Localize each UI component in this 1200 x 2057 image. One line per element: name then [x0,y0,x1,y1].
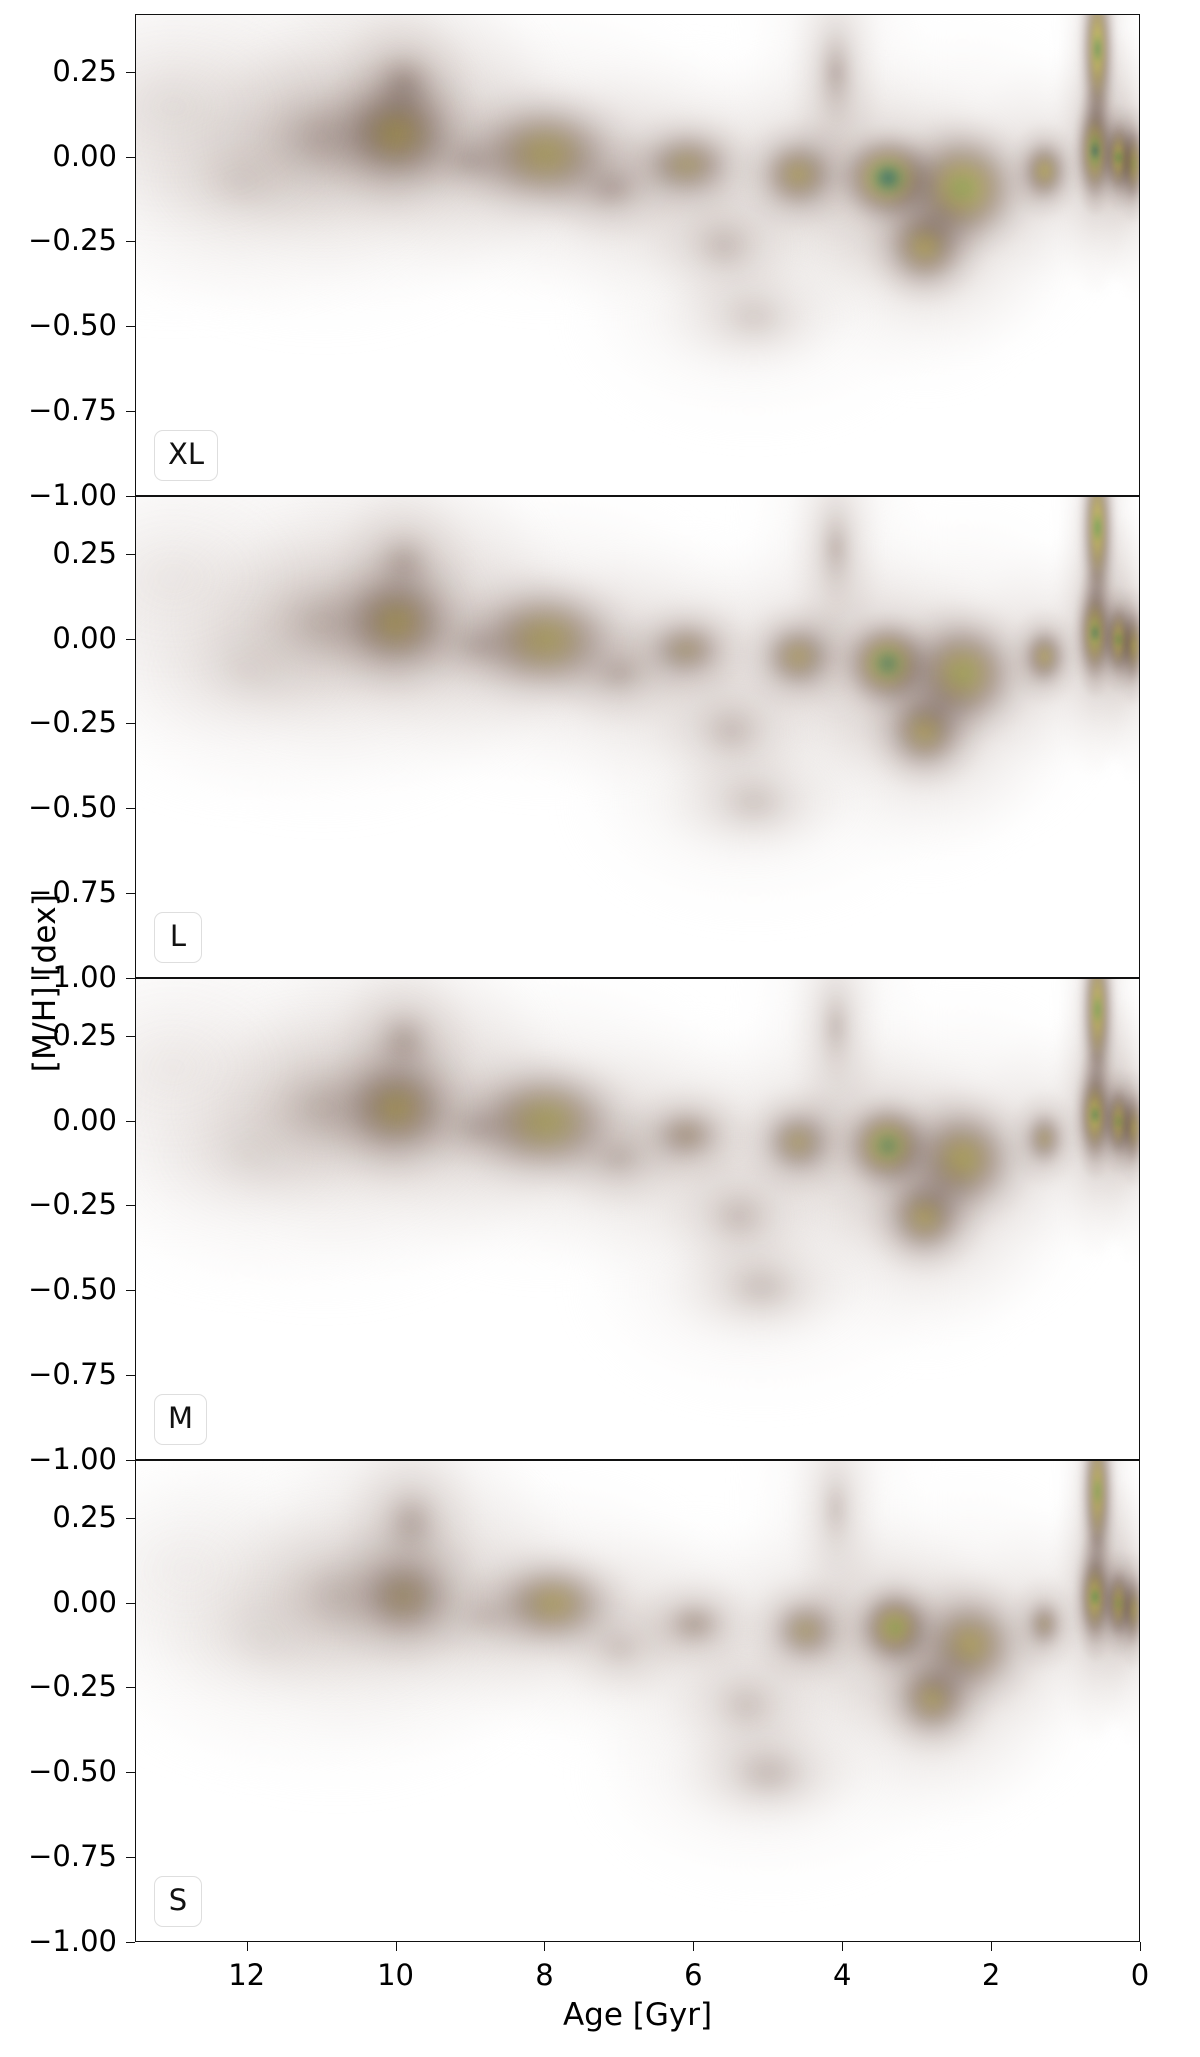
density-blob [453,91,638,217]
density-blob [972,548,1117,766]
x-tick-label: 0 [1095,1958,1185,1992]
y-tick-label: −0.50 [0,1275,117,1304]
density-blob [658,1153,820,1279]
density-blob [551,1106,689,1211]
y-tick-mark [126,1375,135,1376]
density-blob [1117,588,1139,704]
density-blob [335,497,473,635]
y-tick-mark [126,241,135,242]
x-tick-label: 10 [351,1958,441,1992]
density-blob [1100,995,1139,1261]
density-blob [136,1461,527,1836]
density-blob [790,497,882,664]
density-blob [577,1560,916,1850]
panel-tag-xl: XL [154,430,218,481]
y-tick-label: 0.00 [0,142,117,171]
density-blob [662,264,847,369]
density-blob [1051,1461,1138,1742]
density-blob [136,1468,505,1807]
density-blob [195,48,449,227]
y-tick-mark [126,1603,135,1604]
y-tick-label: 0.25 [0,1503,117,1532]
density-blob [569,1071,908,1361]
density-blob [543,136,681,241]
density-blob [195,1019,449,1198]
density-blob [972,1030,1117,1248]
y-tick-label: −0.50 [0,311,117,340]
density-blob [1010,124,1079,219]
density-blob [1059,979,1137,1252]
density-blob [839,1098,936,1193]
y-tick-label: −0.75 [0,396,117,425]
density-blob [786,554,990,772]
y-tick-mark [126,639,135,640]
y-tick-mark [126,1687,135,1688]
density-blob [741,604,856,709]
density-blob [195,533,449,712]
density-blob [779,69,997,287]
density-blob [227,979,566,1265]
density-blob [554,541,821,759]
density-blob [739,497,933,814]
density-blob [560,681,948,923]
density-blob [352,497,740,785]
density-blob [839,616,936,711]
y-tick-label: −1.00 [0,1445,117,1474]
density-blob [136,15,358,222]
x-axis-title: Age [Gyr] [135,1997,1140,2033]
density-blob [340,1520,631,1714]
y-tick-label: −0.75 [0,1842,117,1871]
density-blob [1059,15,1137,291]
y-tick-label: −1.00 [0,963,117,992]
y-tick-mark [126,1205,135,1206]
y-tick-mark [126,978,135,979]
panel-tag-l: L [154,912,202,963]
density-blob [1074,88,1116,214]
density-blob [136,15,561,373]
density-blob [798,1518,992,1736]
y-tick-mark [126,554,135,555]
density-blob [259,15,550,252]
density-blob [136,108,356,255]
density-blob [811,1565,1053,1831]
density-blob [804,113,1046,379]
density-blob [685,1510,927,1752]
density-blob [474,552,765,794]
density-blob [867,673,982,789]
density-blob [409,604,547,688]
y-tick-mark [126,157,135,158]
density-blob [474,1038,765,1280]
density-blob [677,54,919,296]
y-tick-label: 0.00 [0,624,117,653]
y-tick-mark [126,496,135,497]
y-tick-label: −0.25 [0,226,117,255]
y-tick-mark [126,1772,135,1773]
x-tick-label: 6 [648,1958,738,1992]
x-tick-mark [396,1942,397,1951]
density-blob [824,1487,1115,1802]
x-tick-mark [991,1942,992,1951]
density-blob [804,598,1046,864]
density-blob [136,986,490,1325]
density-blob [227,15,566,291]
density-blob [972,62,1117,280]
density-blob [817,1002,1108,1317]
density-blob [335,15,473,157]
density-blob [1051,979,1138,1260]
density-blob [1080,1483,1139,1725]
density-blob [453,1058,638,1184]
density-blob [561,1515,828,1733]
density-blob [893,1091,1031,1228]
density-blob [352,15,740,299]
density-blob [817,516,1108,831]
density-blob [266,1461,557,1716]
density-blob [790,979,882,1142]
density-blob [1074,1534,1116,1660]
density-blob [227,497,566,780]
density-blob [467,67,758,309]
density-blob [1074,570,1116,696]
density-blob [352,979,740,1267]
density-blob [623,1088,750,1183]
density-blob [210,1507,464,1686]
y-tick-mark [126,1857,135,1858]
y-tick-label: 0.25 [0,57,117,86]
x-tick-mark [842,1942,843,1951]
density-blob [551,621,689,726]
density-blob [136,979,346,1183]
y-tick-label: −0.50 [0,1757,117,1786]
y-tick-label: 0.00 [0,1588,117,1617]
density-blob [560,196,948,438]
density-blob [1100,513,1139,779]
y-tick-label: −0.25 [0,1672,117,1701]
density-blob [136,979,589,1314]
y-tick-mark [126,1121,135,1122]
density-blob [677,1021,919,1263]
density-blob [326,64,617,258]
density-blob [849,1580,941,1675]
density-blob [234,1461,573,1754]
panel-tag-m: M [154,1394,207,1445]
y-tick-mark [126,1518,135,1519]
density-blob [316,65,478,202]
density-blob [618,117,756,212]
density-blob [136,497,589,828]
density-blob [669,1235,854,1340]
x-tick-label: 4 [797,1958,887,1992]
density-blob [554,1026,821,1244]
y-tick-label: −0.75 [0,878,117,907]
density-blob [836,131,940,226]
density-blob [786,1036,990,1254]
density-blob [136,497,537,845]
density-blob [804,1083,1046,1349]
panel-xl[interactable]: XL [135,14,1140,496]
density-blob [817,31,1108,346]
density-blob [136,15,589,343]
density-blob [136,1082,363,1229]
density-blob [1051,15,1138,296]
density-blob [551,1595,689,1700]
density-blob [474,1527,765,1769]
density-blob [333,1032,624,1226]
y-tick-mark [126,411,135,412]
density-blob [417,1575,555,1659]
density-blob [1117,1552,1139,1668]
density-blob [472,1551,634,1656]
density-blob [1079,1461,1116,1597]
y-tick-mark [126,1942,135,1943]
y-tick-label: 0.00 [0,1106,117,1135]
density-blob [739,15,933,339]
density-blob [790,1461,882,1624]
density-blob [567,1167,955,1409]
density-blob [867,1159,982,1275]
density-blob [402,119,540,203]
density-blob [541,55,832,273]
density-blob [383,1483,722,1725]
density-blob [1051,497,1138,778]
y-tick-mark [126,723,135,724]
density-surface-l [136,497,1139,977]
density-blob [739,1461,933,1775]
x-tick-label: 8 [499,1958,589,1992]
density-blob [453,576,638,702]
y-tick-label: −0.25 [0,1190,117,1219]
density-blob [1100,1551,1137,1656]
y-tick-mark [126,893,135,894]
density-blob [1080,37,1139,279]
density-blob [875,1641,990,1757]
density-blob [1010,1091,1079,1186]
y-tick-mark [126,72,135,73]
density-blob [259,497,550,731]
density-blob [1010,1577,1079,1672]
density-blob [1059,497,1137,770]
panel-tag-s: S [154,1876,202,1927]
density-blob [1117,106,1139,222]
density-surface-xl [136,15,1139,495]
density-blob [643,183,805,309]
x-tick-mark [1140,1942,1141,1951]
density-blob [739,979,933,1293]
density-blob [1100,1477,1139,1743]
density-blob [316,554,478,691]
density-blob [136,1461,604,1802]
density-blob [651,668,813,794]
density-blob [316,1040,478,1177]
x-tick-mark [544,1942,545,1951]
y-tick-mark [126,1036,135,1037]
density-blob [1080,1001,1139,1243]
density-blob [1100,1069,1137,1174]
density-blob [893,605,1031,742]
density-blob [1059,1461,1137,1734]
density-blob [1010,609,1079,704]
density-blob [323,1528,485,1665]
figure-root: [M/H] [dex] Age [Gyr] XLLMS 0.250.00−0.2… [0,0,1200,2057]
density-blob [409,1086,547,1170]
y-tick-label: −0.75 [0,1360,117,1389]
density-blob [1100,31,1139,297]
density-blob [1117,1070,1139,1186]
density-surface-s [136,1461,1139,1941]
y-tick-mark [126,808,135,809]
density-blob [1079,497,1116,633]
density-blob [748,1578,863,1683]
density-blob [136,1461,350,1685]
density-blob [1074,1052,1116,1178]
panel-l[interactable]: L [135,496,1140,978]
density-blob [972,1515,1117,1733]
density-blob [1079,979,1116,1115]
x-tick-label: 2 [946,1958,1036,1992]
y-tick-mark [126,1290,135,1291]
y-tick-label: −0.50 [0,793,117,822]
y-tick-label: 0.25 [0,539,117,568]
density-blob [741,122,856,227]
density-blob [790,15,882,188]
density-blob [741,1089,856,1194]
y-tick-label: −1.00 [0,481,117,510]
density-blob [136,497,346,694]
density-blob [554,101,893,391]
x-tick-mark [247,1942,248,1951]
density-blob [136,596,363,743]
density-surface-m [136,979,1139,1459]
x-tick-mark [693,1942,694,1951]
density-blob [662,750,847,855]
density-blob [1100,105,1137,210]
y-tick-mark [126,326,135,327]
density-blob [136,979,537,1333]
y-tick-label: 0.25 [0,1021,117,1050]
density-blob [666,1642,828,1768]
density-blob [562,586,901,876]
density-blob [259,979,550,1210]
density-blob [676,1721,861,1826]
y-tick-label: −0.25 [0,708,117,737]
density-blob [631,1577,758,1672]
y-tick-label: −1.00 [0,1927,117,1956]
density-blob [867,188,982,304]
density-blob [893,120,1031,257]
density-blob [575,1652,963,1894]
density-blob [623,602,750,697]
density-blob [147,1564,378,1711]
density-blob [1079,15,1116,154]
density-blob [1100,587,1137,692]
density-blob [335,979,473,1114]
density-blob [1080,519,1139,761]
panel-s[interactable]: S [135,1460,1140,1942]
x-tick-label: 12 [202,1958,292,1992]
density-blob [333,550,624,744]
density-blob [677,536,919,778]
density-blob [136,15,483,351]
density-blob [342,1461,480,1606]
density-blob [136,501,490,840]
y-tick-mark [126,1460,135,1461]
density-blob [901,1576,1039,1713]
panel-m[interactable]: M [135,978,1140,1460]
